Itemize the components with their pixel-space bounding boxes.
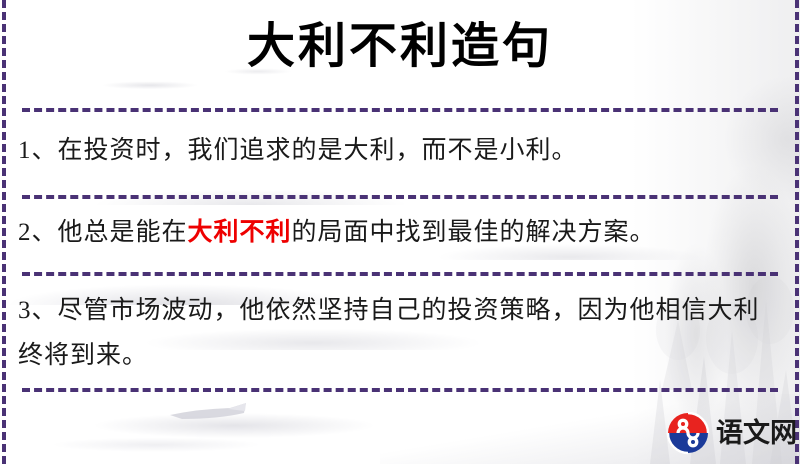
- boat-watermark-icon: [168, 401, 268, 423]
- frame-border-right: [795, 0, 799, 464]
- sentence-text-2-before: 他总是能在: [58, 219, 188, 246]
- sentence-number-2: 2、: [18, 219, 58, 246]
- keyword-highlight: 大利不利: [188, 219, 292, 246]
- frame-border-left: [2, 0, 6, 464]
- divider-below-title: [22, 108, 778, 112]
- divider-after-sentence-3: [22, 388, 778, 392]
- sentence-text-3: 尽管市场波动，他依然坚持自己的投资策略，因为他相信大利终将到来。: [18, 297, 760, 369]
- slide-canvas: 大利不利造句 1、在投资时，我们追求的是大利，而不是小利。 2、他总是能在大利不…: [0, 0, 800, 464]
- sentence-item-3: 3、尽管市场波动，他依然坚持自己的投资策略，因为他相信大利终将到来。: [18, 288, 782, 378]
- sentence-number-3: 3、: [18, 297, 58, 324]
- site-logo-text: 语文网: [716, 418, 797, 448]
- water-watermark: [0, 400, 520, 464]
- yin-yang-logo-icon: [666, 411, 710, 455]
- sentence-item-1: 1、在投资时，我们追求的是大利，而不是小利。: [18, 128, 782, 173]
- divider-after-sentence-2: [22, 272, 778, 276]
- page-title: 大利不利造句: [0, 16, 800, 78]
- sentence-text-2-after: 的局面中找到最佳的解决方案。: [292, 219, 656, 246]
- sentence-text-1: 在投资时，我们追求的是大利，而不是小利。: [58, 137, 578, 164]
- divider-after-sentence-1: [22, 195, 778, 199]
- sentence-number-1: 1、: [18, 137, 58, 164]
- site-logo[interactable]: 语文网: [666, 410, 797, 456]
- sentence-item-2: 2、他总是能在大利不利的局面中找到最佳的解决方案。: [18, 210, 782, 255]
